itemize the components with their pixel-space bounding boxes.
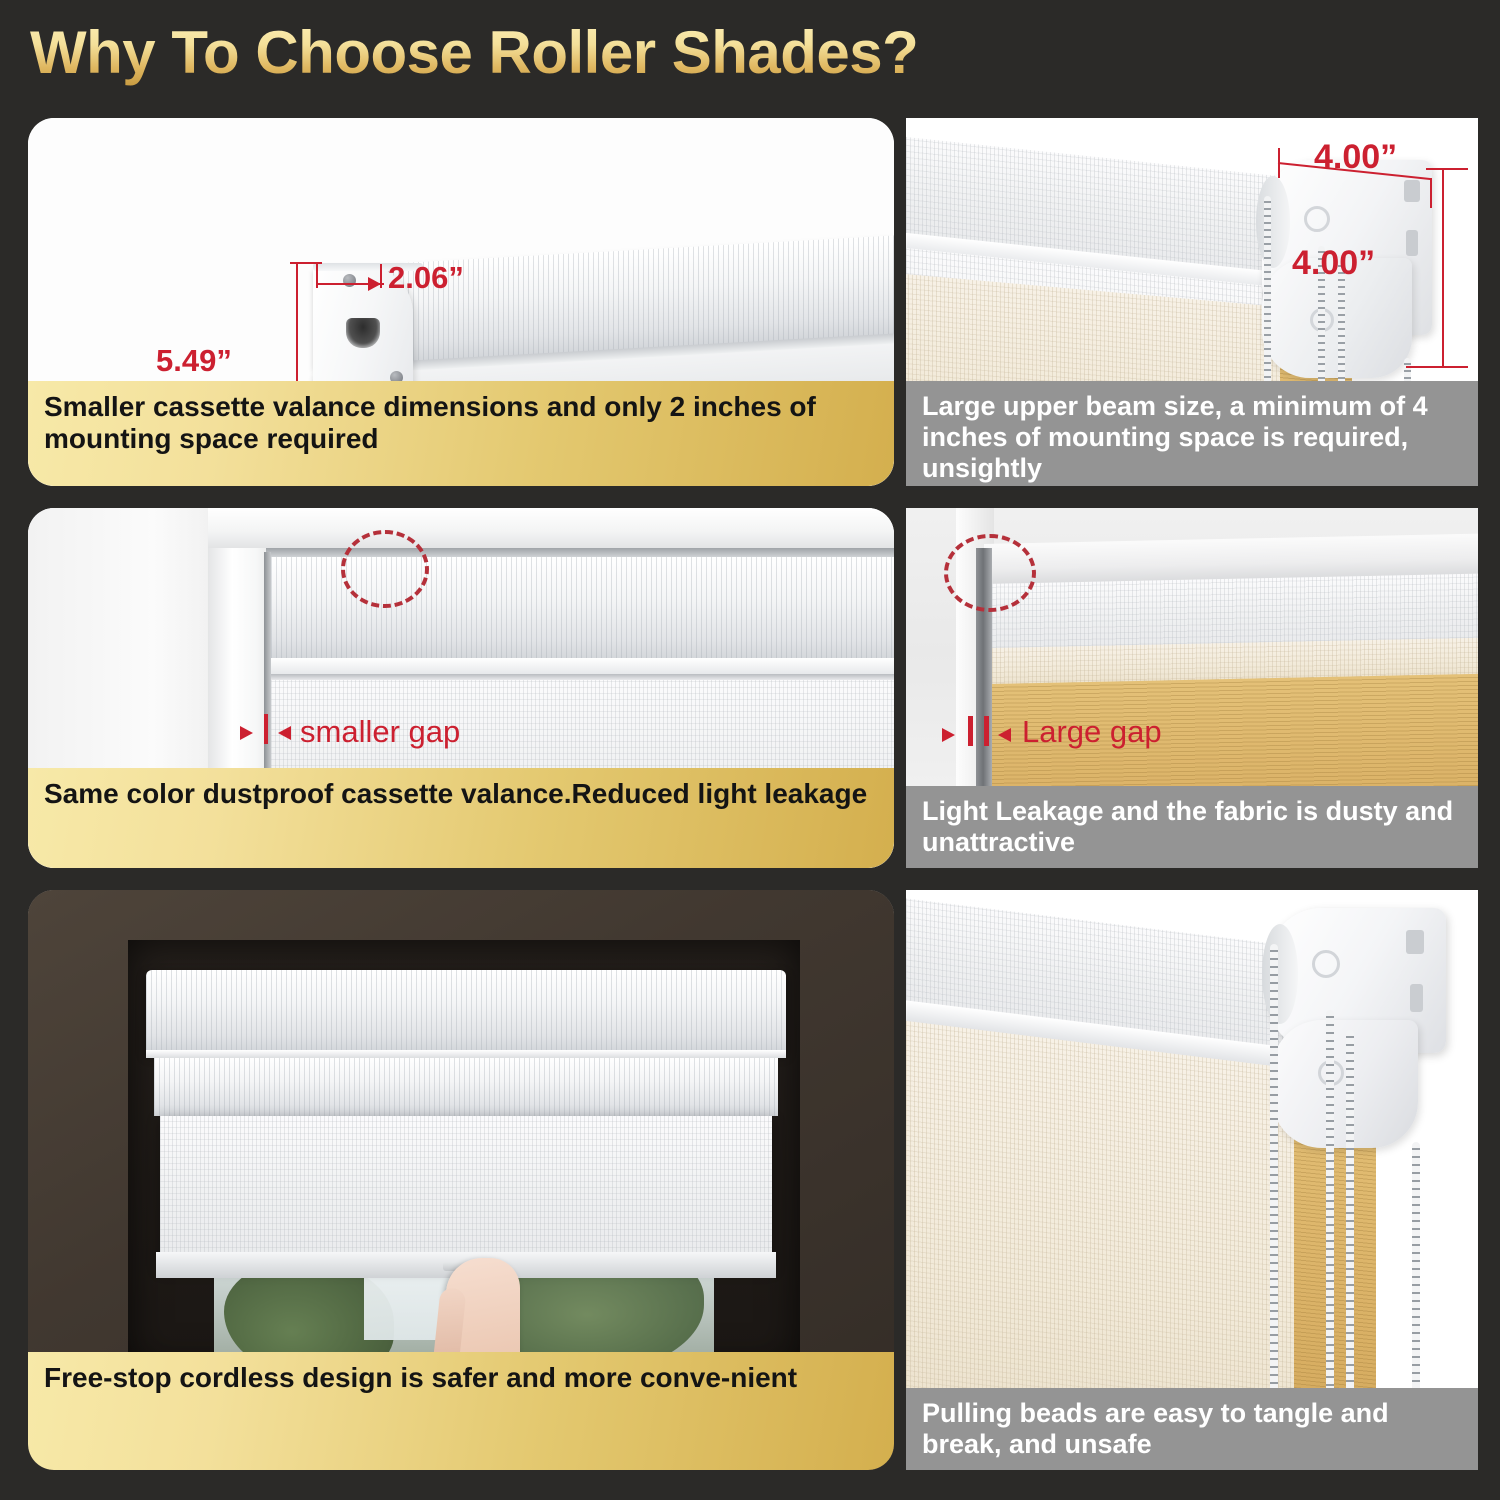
- bracket-notch-b: [1410, 984, 1423, 1012]
- infographic-root: Why To Choose Roller Shades? 2.06”: [0, 0, 1500, 1500]
- cassette-valance-head: [146, 970, 786, 1052]
- panel-large-upper-beam: 4.00” 4.00” Large upper beam size, a min…: [906, 118, 1478, 486]
- gap-arrow-right: [278, 726, 291, 740]
- panel-cassette-dimensions: 2.06” 5.49” Smaller cassette valance dim…: [28, 118, 894, 486]
- caption-panel-2: Large upper beam size, a minimum of 4 in…: [906, 381, 1478, 486]
- roller-shade-fabric: [160, 1116, 772, 1266]
- width-dimension-label: 2.06”: [388, 260, 464, 296]
- bead-chain-a: [1270, 944, 1278, 1464]
- roller-end-disc-2: [1262, 924, 1298, 1024]
- caption-panel-3: Same color dustproof cassette valance.Re…: [28, 768, 894, 868]
- large-gap-arrow-right: [998, 728, 1011, 742]
- panel-light-leakage: Large gap Light Leakage and the fabric i…: [906, 508, 1478, 868]
- large-gap-arrow-left: [942, 728, 955, 742]
- clutch-bracket-lower2: [1272, 1020, 1418, 1148]
- height-dimension-label: 5.49”: [156, 343, 232, 379]
- bracket-hub-a: [1312, 950, 1340, 978]
- screw-top: [343, 274, 356, 287]
- large-gap-bar-2: [984, 716, 989, 746]
- panel-cordless-free-stop: Free-stop cordless design is safer and m…: [28, 890, 894, 1470]
- beam-height-tick-top: [1426, 168, 1468, 170]
- dustproof-highlight: [341, 530, 429, 608]
- beam-height-dimension-label: 4.00”: [1292, 244, 1375, 283]
- leak-highlight: [944, 534, 1036, 612]
- photo-pulling-beads: [906, 890, 1478, 1470]
- beam-height-tick-bottom: [1406, 366, 1468, 368]
- large-gap-bar-1: [968, 716, 973, 746]
- bracket-hub-1: [1304, 206, 1330, 232]
- width-dim-arrow: [368, 277, 381, 291]
- bracket-slot-1: [1404, 180, 1420, 202]
- valance-seam: [146, 1050, 786, 1058]
- large-gap-label: Large gap: [1022, 714, 1162, 750]
- valance-second-band: [154, 1058, 778, 1116]
- panel-dustproof-cassette: smaller gap Same color dustproof cassett…: [28, 508, 894, 868]
- gap-arrow-left: [240, 726, 253, 740]
- beam-height-dim-line: [1442, 168, 1444, 368]
- valance-bottom-lip: [266, 658, 894, 674]
- gap-measure-bar: [264, 714, 268, 744]
- smaller-gap-label: smaller gap: [300, 714, 460, 750]
- window-casing-top: [208, 508, 894, 548]
- caption-panel-6: Pulling beads are easy to tangle and bre…: [906, 1388, 1478, 1470]
- bracket-slot-2: [1406, 230, 1418, 256]
- beam-width-tick-right: [1430, 178, 1432, 208]
- caption-panel-1: Smaller cassette valance dimensions and …: [28, 381, 894, 486]
- bracket-notch-a: [1406, 930, 1424, 954]
- page-title: Why To Choose Roller Shades?: [30, 18, 918, 87]
- roller-end-disc: [1256, 176, 1290, 268]
- clutch-slot: [346, 318, 380, 348]
- panel-pulling-beads: Pulling beads are easy to tangle and bre…: [906, 890, 1478, 1470]
- beam-width-dimension-label: 4.00”: [1314, 138, 1397, 177]
- caption-panel-4: Light Leakage and the fabric is dusty an…: [906, 786, 1478, 868]
- height-dim-tick-top: [290, 262, 322, 264]
- caption-panel-5: Free-stop cordless design is safer and m…: [28, 1352, 894, 1470]
